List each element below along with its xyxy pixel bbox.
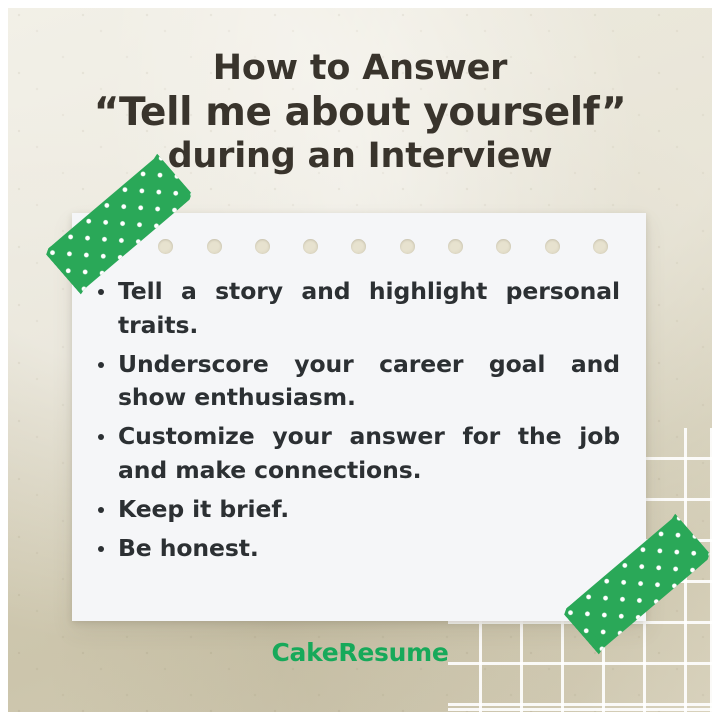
brand-logo: CakeResume <box>0 638 720 667</box>
page-title: How to Answer “Tell me about yourself” d… <box>0 48 720 178</box>
list-item-label: Tell a story and highlight personal trai… <box>118 277 620 339</box>
punch-hole-row <box>72 239 646 259</box>
punch-hole <box>593 239 608 254</box>
punch-hole <box>255 239 270 254</box>
list-item: Keep it brief. <box>92 493 620 527</box>
list-item-label: Underscore your career goal and show ent… <box>118 350 620 412</box>
title-line-2: “Tell me about yourself” <box>0 90 720 136</box>
list-item: Underscore your career goal and show ent… <box>92 348 620 416</box>
list-item-label: Keep it brief. <box>118 495 289 523</box>
list-item-label: Customize your answer for the job and ma… <box>118 422 620 484</box>
poster: How to Answer “Tell me about yourself” d… <box>0 0 720 720</box>
list-item: Customize your answer for the job and ma… <box>92 420 620 488</box>
list-item: Be honest. <box>92 532 620 566</box>
punch-hole <box>448 239 463 254</box>
title-line-3: during an Interview <box>0 136 720 178</box>
note-card: Tell a story and highlight personal trai… <box>72 213 646 621</box>
punch-hole <box>496 239 511 254</box>
punch-hole <box>351 239 366 254</box>
punch-hole <box>207 239 222 254</box>
punch-hole <box>303 239 318 254</box>
title-line-1: How to Answer <box>0 48 720 90</box>
punch-hole <box>158 239 173 254</box>
tips-list: Tell a story and highlight personal trai… <box>72 275 646 566</box>
list-item-label: Be honest. <box>118 534 259 562</box>
punch-hole <box>400 239 415 254</box>
punch-hole <box>545 239 560 254</box>
list-item: Tell a story and highlight personal trai… <box>92 275 620 343</box>
